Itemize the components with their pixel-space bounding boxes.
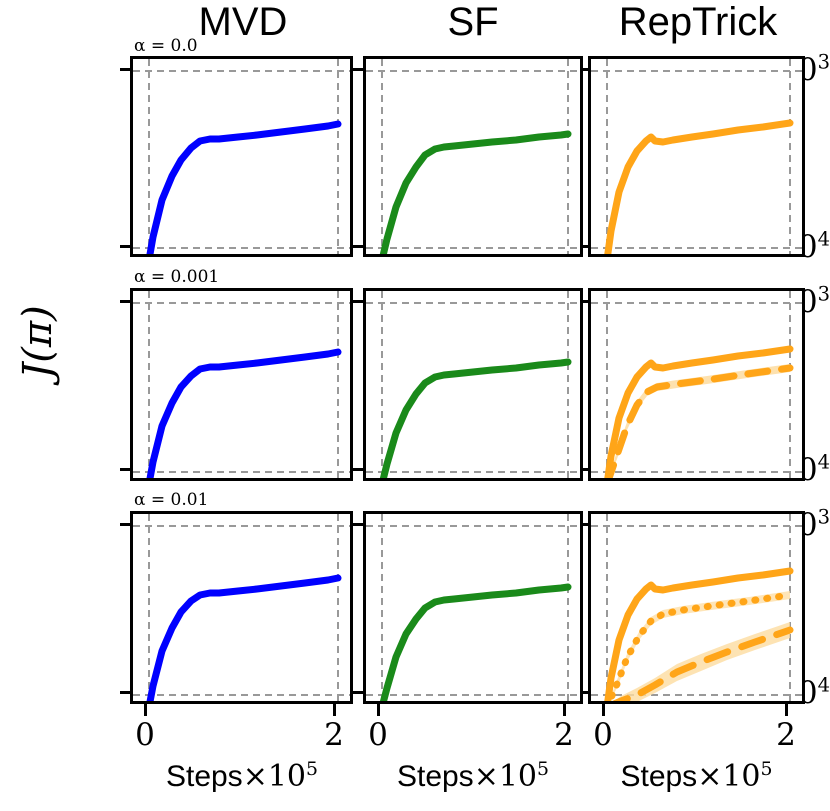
alpha-annotation-text: α = 0.001 [134, 267, 219, 287]
y-tick-exponent: 4 [818, 228, 830, 251]
panel-plot-area [133, 291, 353, 481]
x-tick-label-0-col1: 0 [120, 720, 170, 751]
panel-plot-area [133, 514, 353, 704]
column-title-reptrick: RepTrick [588, 2, 808, 42]
x-tickmark [377, 704, 380, 716]
figure-canvas: MVD SF RepTrick J(π) −103 −104 −103 −104… [0, 0, 830, 811]
panel-plot-area [366, 59, 583, 257]
alpha-annotation-row3: α = 0.01 [134, 492, 208, 509]
alpha-annotation-text: α = 0.0 [134, 36, 198, 56]
x-axis-label-multiplier: ×105 [243, 759, 318, 794]
panel-mvd-alpha001[interactable] [130, 288, 353, 481]
series-line-mvd-a001 [149, 352, 338, 481]
x-tickmark [602, 704, 605, 716]
x-tickmark [785, 704, 788, 716]
column-title-sf: SF [363, 2, 583, 42]
y-axis-label: J(π) [8, 242, 68, 442]
x-tickmark [144, 704, 147, 716]
panel-reptrick-alpha01[interactable] [588, 511, 805, 704]
series-line-mvd-a01 [149, 578, 338, 704]
panel-reptrick-alpha0[interactable] [588, 56, 805, 257]
panel-plot-area [366, 291, 583, 481]
series-line-sf-a01 [382, 587, 568, 704]
panel-plot-area [591, 59, 805, 257]
confidence-band-rep-a01-dashed [607, 622, 790, 704]
panel-plot-area [591, 514, 805, 704]
panel-mvd-alpha0[interactable] [130, 56, 353, 257]
alpha-annotation-row1: α = 0.0 [134, 38, 198, 55]
x-tick-label-0-col2: 0 [353, 720, 403, 751]
gridlines [133, 291, 353, 481]
gridlines [133, 59, 353, 257]
x-tickmark [333, 704, 336, 716]
series-line-sf-a0 [382, 134, 568, 257]
x-axis-label-col2: Steps×105 [363, 762, 583, 792]
gridlines [591, 59, 805, 257]
y-axis-label-text: J(π) [18, 305, 58, 379]
panel-plot-area [366, 514, 583, 704]
y-tick-exponent: 3 [818, 51, 830, 74]
series-line-sf-a001 [382, 362, 568, 481]
x-tick-label-0-col3: 0 [578, 720, 628, 751]
panel-sf-alpha001[interactable] [363, 288, 583, 481]
x-tick-label-2-col3: 2 [761, 720, 811, 751]
gridlines [366, 59, 583, 257]
panel-sf-alpha01[interactable] [363, 511, 583, 704]
x-tickmark [563, 704, 566, 716]
x-axis-label-col3: Steps×105 [588, 762, 805, 792]
gridlines [133, 514, 353, 704]
series-line-mvd-a0 [149, 124, 338, 257]
panel-reptrick-alpha001[interactable] [588, 288, 805, 481]
gridlines [366, 514, 583, 704]
gridlines [366, 291, 583, 481]
x-axis-label-col1: Steps×105 [131, 762, 353, 792]
x-axis-label-text: Steps [166, 760, 243, 793]
panel-mvd-alpha01[interactable] [130, 511, 353, 704]
gridlines [591, 291, 805, 481]
panel-sf-alpha0[interactable] [363, 56, 583, 257]
alpha-annotation-text: α = 0.01 [134, 490, 208, 510]
alpha-annotation-row2: α = 0.001 [134, 269, 219, 286]
panel-plot-area [133, 59, 353, 257]
panel-plot-area [591, 291, 805, 481]
x-tick-label-2-col1: 2 [309, 720, 359, 751]
series-line-rep-a0 [607, 123, 790, 257]
